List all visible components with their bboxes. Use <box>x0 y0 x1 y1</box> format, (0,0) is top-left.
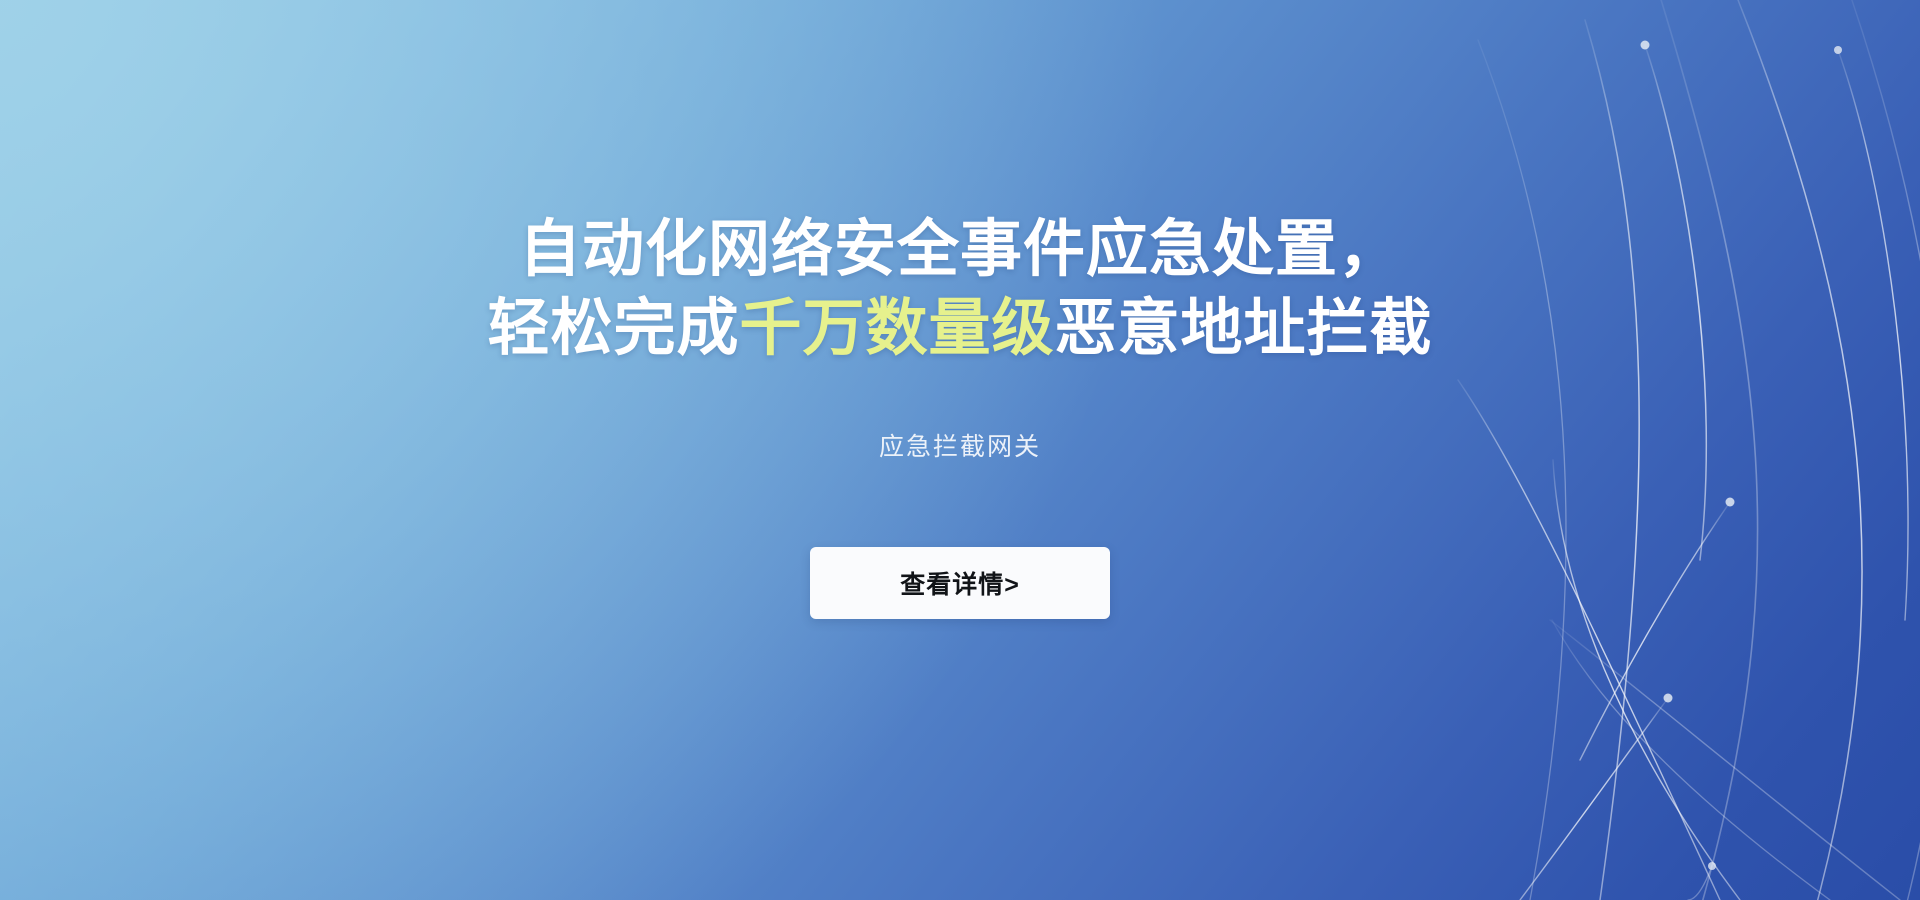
headline-line-2-prefix: 轻松完成 <box>487 294 739 363</box>
hero-banner: 自动化网络安全事件应急处置， 轻松完成千万数量级恶意地址拦截 应急拦截网关 查看… <box>0 0 1920 900</box>
page-title: 自动化网络安全事件应急处置， 轻松完成千万数量级恶意地址拦截 <box>487 210 1432 369</box>
headline-line-1: 自动化网络安全事件应急处置， <box>519 215 1401 284</box>
subtitle: 应急拦截网关 <box>879 427 1041 463</box>
view-details-button[interactable]: 查看详情> <box>810 547 1110 619</box>
view-details-label: 查看详情> <box>900 565 1020 601</box>
headline-line-2-suffix: 恶意地址拦截 <box>1055 294 1433 363</box>
hero-content: 自动化网络安全事件应急处置， 轻松完成千万数量级恶意地址拦截 应急拦截网关 查看… <box>0 0 1920 900</box>
headline-accent-text: 千万数量级 <box>739 294 1054 363</box>
